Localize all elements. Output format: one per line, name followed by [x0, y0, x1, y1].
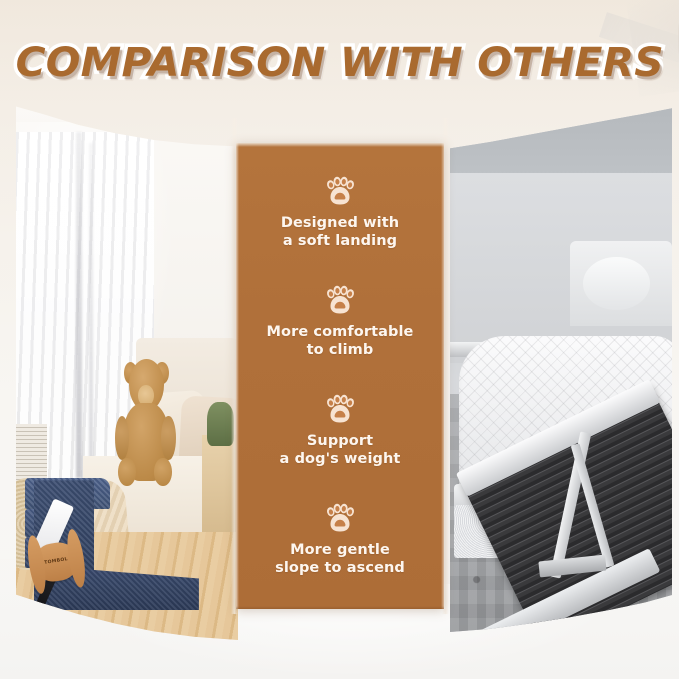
bone-brand-tag: TOMBOL — [31, 540, 81, 584]
paw-icon — [323, 176, 357, 208]
page-title-container: COMPARISON WITH OTHERS — [0, 40, 679, 86]
teddy-bear — [116, 359, 176, 489]
feature-label: More gentle slope to ascend — [275, 542, 405, 577]
paw-icon — [323, 394, 357, 426]
feature-item: More gentle slope to ascend — [244, 503, 436, 577]
right-product-photo — [450, 104, 672, 632]
curtain-fold-secondary — [89, 143, 93, 467]
left-product-photo: TOMBOL — [16, 100, 238, 640]
feature-item: More comfortable to climb — [244, 285, 436, 359]
feature-label: More comfortable to climb — [266, 324, 413, 359]
round-side-table — [583, 257, 650, 310]
plant — [207, 402, 234, 445]
paw-icon — [323, 285, 357, 317]
feature-item: Support a dog's weight — [244, 394, 436, 468]
teddy-arm-left — [115, 416, 129, 460]
curtain-fold — [76, 132, 82, 478]
bone-tag-text: TOMBOL — [44, 557, 68, 566]
page-title: COMPARISON WITH OTHERS — [15, 40, 663, 86]
comparison-infographic: COMPARISON WITH OTHERS — [0, 0, 679, 679]
teddy-arm-right — [161, 416, 175, 460]
paw-icon — [323, 503, 357, 535]
feature-label: Designed with a soft landing — [281, 215, 399, 250]
feature-item: Designed with a soft landing — [244, 176, 436, 250]
feature-list: Designed with a soft landing More comfor… — [236, 143, 444, 609]
feature-label: Support a dog's weight — [280, 433, 401, 468]
feature-list-panel: Designed with a soft landing More comfor… — [236, 143, 444, 609]
